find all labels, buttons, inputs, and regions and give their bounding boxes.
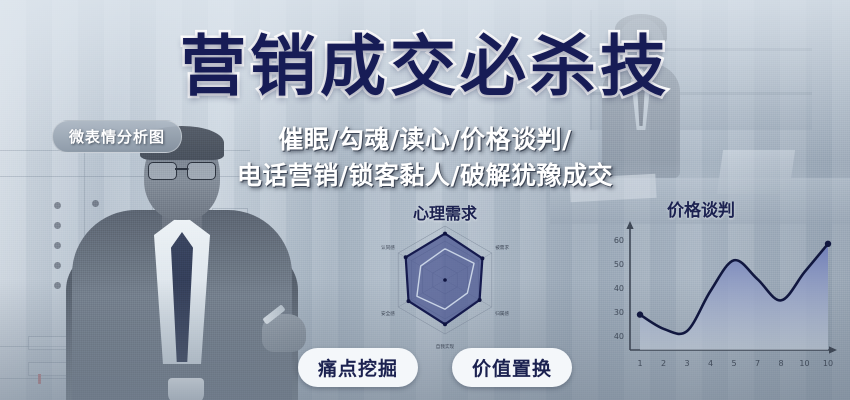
line-chart-svg: 6050403040 12345781010 — [596, 218, 846, 386]
y-axis-tick-label: 40 — [614, 332, 624, 341]
x-axis-tick-label: 5 — [731, 359, 736, 368]
subtitle-line-1: 催眠/勾魂/读心/价格谈判/ — [0, 120, 850, 156]
y-axis-tick-label: 30 — [614, 308, 624, 317]
x-axis-tick-label: 10 — [823, 359, 833, 368]
line-chart: 价格谈判 6050403040 12345781010 — [596, 196, 846, 386]
y-axis-tick-label: 50 — [614, 260, 624, 269]
radar-vertex-marker — [407, 299, 411, 303]
line-point-start — [637, 311, 643, 317]
radar-vertex-marker — [480, 256, 484, 260]
x-axis-ticks: 12345781010 — [637, 359, 833, 368]
pill-pain-point[interactable]: 痛点挖掘 — [298, 348, 418, 387]
y-axis-tick-label: 60 — [614, 236, 624, 245]
x-axis-tick-label: 2 — [661, 359, 666, 368]
radar-axis-label: 自我实现 — [436, 343, 455, 350]
radar-vertex-marker — [478, 298, 482, 302]
radar-vertex-marker — [443, 232, 447, 236]
x-axis-tick-label: 8 — [778, 359, 783, 368]
x-axis-tick-label: 10 — [799, 359, 809, 368]
x-axis-tick-label: 3 — [684, 359, 689, 368]
radar-center-marker — [443, 278, 447, 282]
radar-axis-label: 归属感 — [495, 310, 509, 317]
page-title: 营销成交必杀技 — [0, 34, 850, 100]
radar-chart: 心理需求 尊重被需求归属感自我实现安全感认同感 — [330, 200, 560, 360]
radar-axis-label: 安全感 — [381, 310, 395, 317]
y-axis-ticks: 6050403040 — [614, 236, 624, 341]
pill-value-exchange[interactable]: 价值置换 — [452, 348, 572, 387]
radar-chart-svg: 尊重被需求归属感自我实现安全感认同感 — [330, 218, 560, 360]
radar-vertex-marker — [443, 322, 447, 326]
line-point-end — [825, 241, 831, 247]
radar-axis-label: 被需求 — [495, 244, 509, 251]
x-axis-arrow — [829, 346, 837, 353]
x-axis-tick-label: 7 — [755, 359, 760, 368]
radar-axis-label: 认同感 — [381, 244, 395, 251]
x-axis-tick-label: 4 — [708, 359, 713, 368]
subtitle-line-2: 电话营销/锁客黏人/破解犹豫成交 — [0, 156, 850, 192]
y-axis-arrow — [626, 221, 633, 229]
y-axis-tick-label: 40 — [614, 284, 624, 293]
x-axis-tick-label: 1 — [637, 359, 642, 368]
radar-vertex-marker — [404, 255, 408, 259]
marketing-banner: 微表情分析图 营销成交必杀技 催眠/勾魂/读心/价格谈判/ 电话营销/锁客黏人/… — [0, 0, 850, 400]
